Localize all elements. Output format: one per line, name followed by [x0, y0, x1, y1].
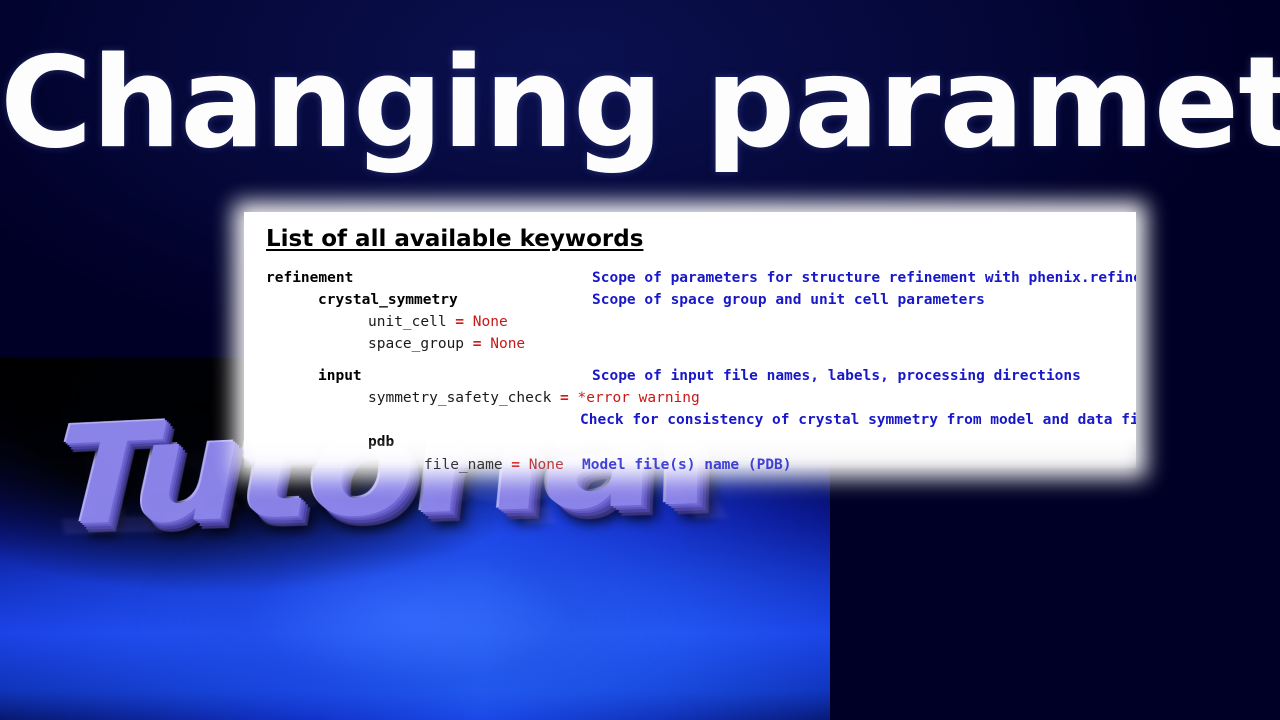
- keyword-row: Check for consistency of crystal symmetr…: [244, 410, 1136, 432]
- scope-name: crystal_symmetry: [318, 290, 458, 311]
- keyword-row: refinementScope of parameters for struct…: [244, 268, 1136, 290]
- keyword-listing: refinementScope of parameters for struct…: [244, 268, 1136, 454]
- parameter-value: *error warning: [578, 390, 700, 406]
- scope-name: refinement: [266, 268, 353, 289]
- keyword-row: symmetry_safety_check = *error warning: [244, 388, 1136, 410]
- keyword-overflow-line: file_name = NoneModel file(s) name (PDB): [244, 454, 1136, 478]
- scope-description: Scope of parameters for structure refine…: [592, 268, 1136, 289]
- parameter-name: unit_cell = None: [368, 312, 508, 333]
- scope-name: pdb: [368, 432, 394, 453]
- keyword-row: crystal_symmetryScope of space group and…: [244, 290, 1136, 312]
- slide-canvas: Changing parameters Tutorial Tutorial Li…: [0, 0, 1280, 720]
- overflow-parameter: file_name = None: [424, 454, 564, 476]
- keyword-row: inputScope of input file names, labels, …: [244, 366, 1136, 388]
- parameter-description: Model file(s) name (PDB): [582, 454, 792, 476]
- equals-sign: =: [503, 457, 529, 473]
- parameter-name: symmetry_safety_check = *error warning: [368, 388, 700, 409]
- keyword-panel-wrapper: List of all available keywords refinemen…: [244, 212, 1136, 468]
- scope-description: Scope of input file names, labels, proce…: [592, 366, 1081, 387]
- parameter-value: None: [473, 314, 508, 330]
- parameter-value: None: [490, 336, 525, 352]
- parameter-name: space_group = None: [368, 334, 525, 355]
- page-title: Changing parameters: [0, 28, 1280, 178]
- scope-description: Scope of space group and unit cell param…: [592, 290, 985, 311]
- keyword-row: unit_cell = None: [244, 312, 1136, 334]
- parameter-value: None: [529, 457, 564, 473]
- keyword-row: space_group = None: [244, 334, 1136, 356]
- scope-description: Check for consistency of crystal symmetr…: [580, 410, 1136, 431]
- scope-name: input: [318, 366, 362, 387]
- keyword-panel: List of all available keywords refinemen…: [244, 212, 1136, 468]
- parameter-name: file_name: [424, 457, 503, 473]
- keyword-row: pdb: [244, 432, 1136, 454]
- panel-heading: List of all available keywords: [266, 224, 643, 254]
